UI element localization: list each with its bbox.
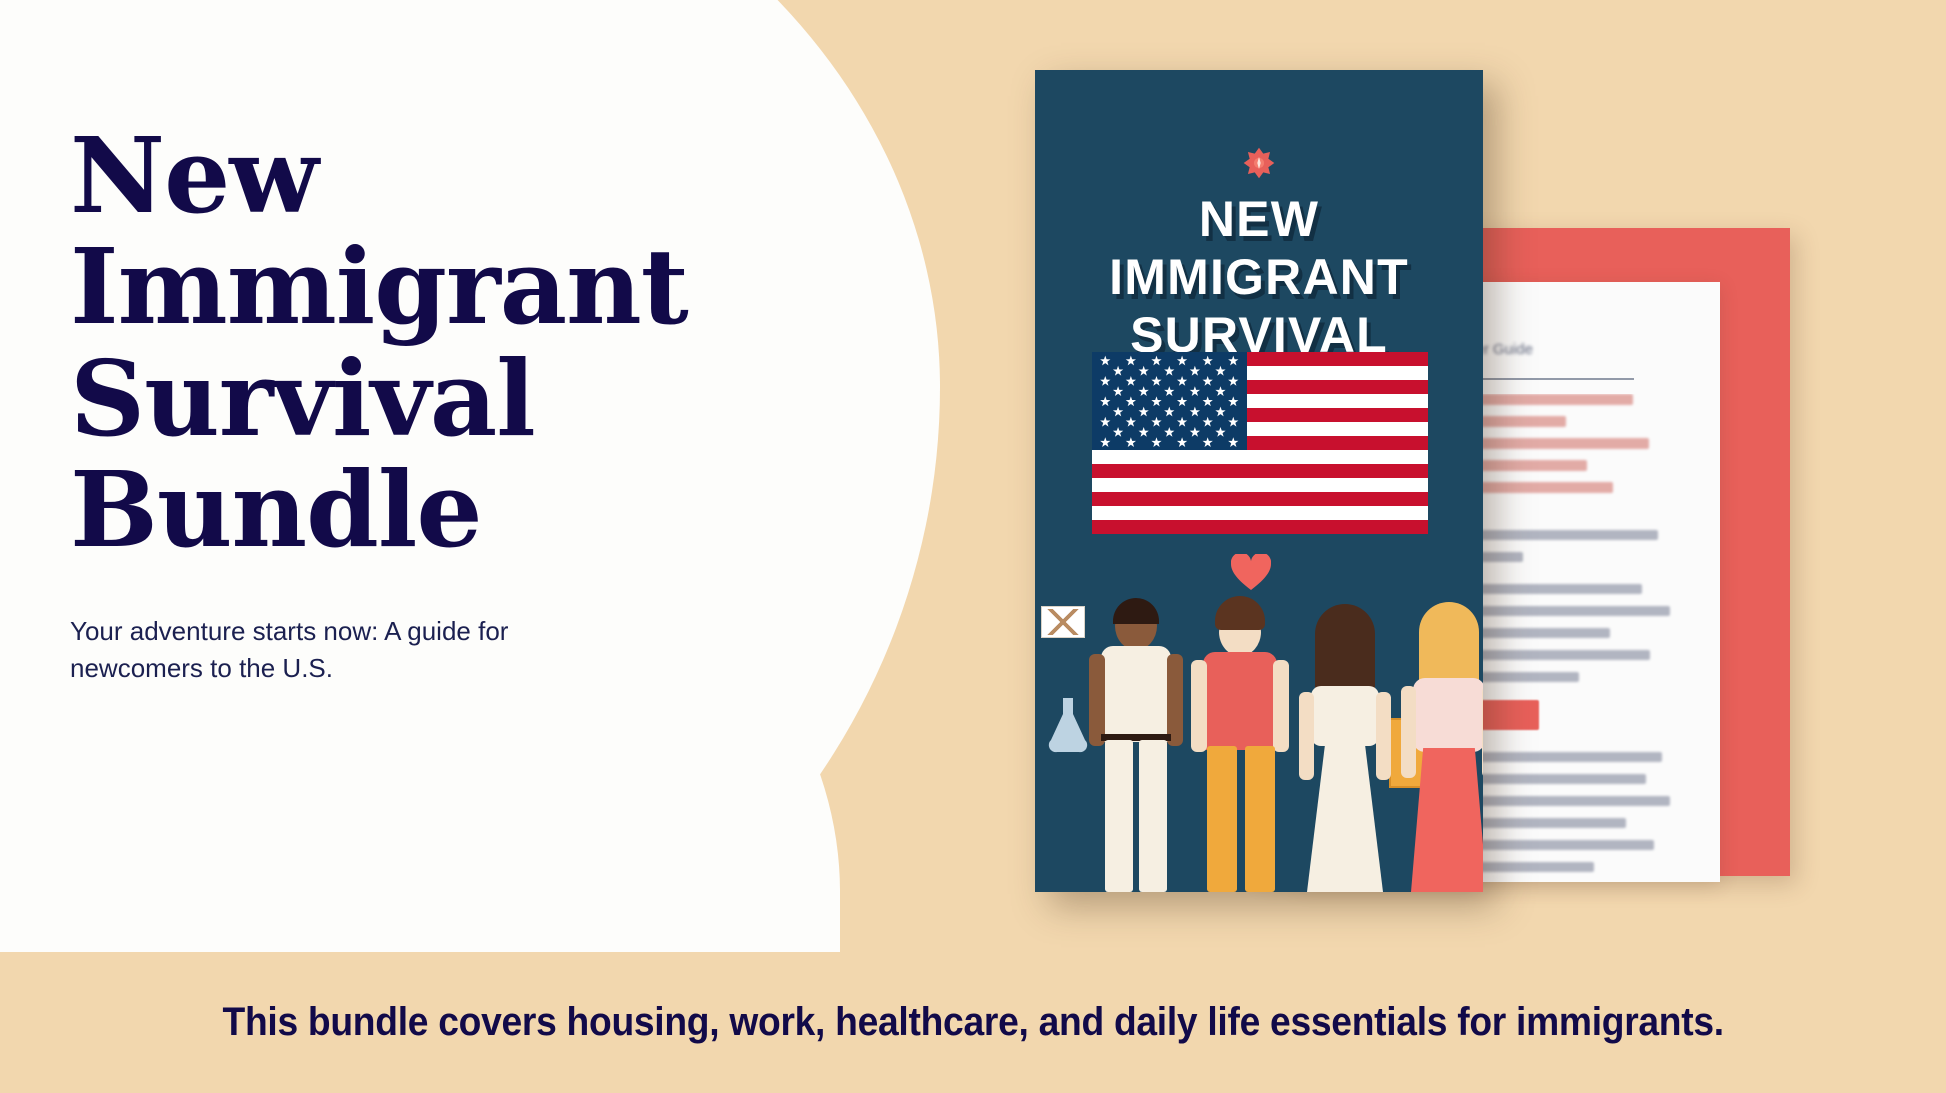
page-title: New Immigrant Survival Bundle: [70, 120, 710, 565]
red-rosette-badge-icon: [1242, 146, 1276, 180]
artwork-stage: Sommer U.S. on Immigrant Newcomer Guide: [960, 0, 1946, 960]
four-people-holding-hands-illustration: [1035, 522, 1483, 892]
headline-line-2: Immigrant: [70, 231, 710, 342]
hero-subtitle: Your adventure starts now: A guide for n…: [70, 613, 540, 687]
flag-stars: [1092, 352, 1247, 450]
poster-canvas: Sommer U.S. on Immigrant Newcomer Guide: [0, 0, 1946, 1093]
person-2: [1197, 602, 1287, 892]
headline-line-3: Survival: [70, 343, 710, 454]
flask-icon: [1045, 698, 1091, 754]
headline-line-4: Bundle: [70, 454, 710, 565]
headline-line-1: New: [70, 120, 710, 231]
person-4: [1403, 602, 1483, 892]
flag-canton: [1092, 352, 1247, 450]
bottom-banner-text: This bundle covers housing, work, health…: [222, 1000, 1723, 1045]
cover-title-line-1: NEW: [1035, 190, 1483, 248]
us-flag-icon: [1092, 352, 1428, 534]
heart-icon: [1231, 554, 1271, 592]
person-3: [1297, 600, 1393, 892]
person-1: [1093, 602, 1179, 892]
cover-title-line-2: IMMIGRANT: [1035, 248, 1483, 306]
hero-text-column: New Immigrant Survival Bundle Your adven…: [70, 120, 710, 687]
envelope-icon: [1041, 606, 1085, 638]
book-cover: NEW IMMIGRANT SURVIVAL: [1035, 70, 1483, 892]
bottom-banner: This bundle covers housing, work, health…: [0, 952, 1946, 1093]
cover-title: NEW IMMIGRANT SURVIVAL: [1035, 190, 1483, 364]
